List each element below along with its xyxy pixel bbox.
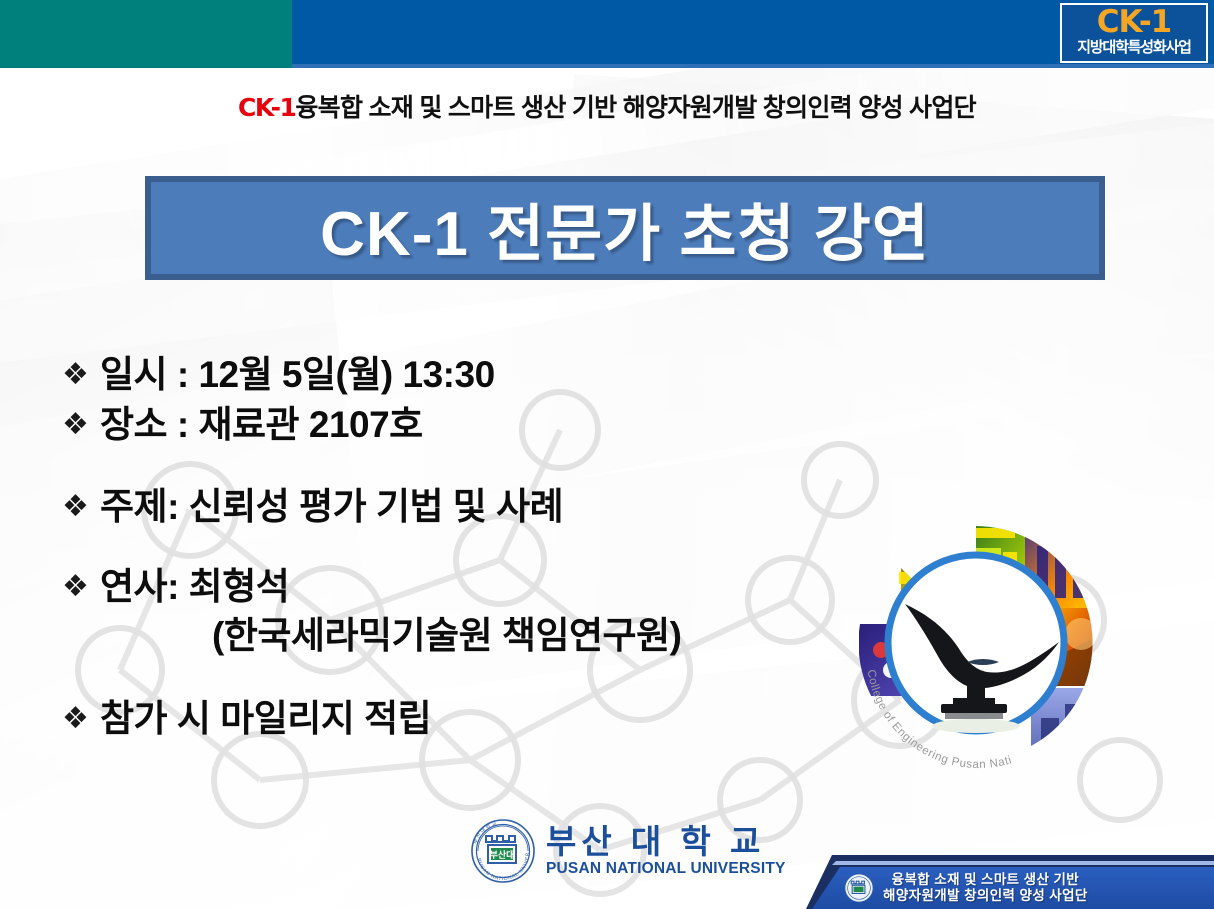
headline-org-text: 융복합 소재 및 스마트 생산 기반 해양자원개발 창의인력 양성 사업단 [295, 94, 976, 122]
list-item: ❖ 연사: 최형석 [62, 564, 882, 610]
pnu-seal-icon: 부산대 부산대학교 PUSAN NATIONAL UNIVERSITY [470, 818, 536, 884]
detail-location: 장소 : 재료관 2107호 [100, 402, 423, 448]
diamond-bullet-icon: ❖ [62, 352, 100, 398]
list-item: ❖ 장소 : 재료관 2107호 [62, 402, 882, 448]
detail-mileage: 참가 시 마일리지 적립 [100, 696, 431, 742]
pnu-wordmark: 부산 대 학 교 PUSAN NATIONAL UNIVERSITY [546, 825, 786, 877]
ck1-badge-subtitle: 지방대학특성화사업 [1062, 39, 1206, 56]
banner-light-stripe [806, 861, 1214, 865]
detail-speaker-affiliation: (한국세라믹기술원 책임연구원) [62, 610, 882, 662]
college-of-engineering-emblem: College of Engineering Pusan National Un… [845, 512, 1107, 774]
banner-line-1: 융복합 소재 및 스마트 생산 기반 [883, 872, 1088, 888]
diamond-bullet-icon: ❖ [62, 402, 100, 448]
diamond-bullet-icon: ❖ [62, 696, 100, 742]
topbar-teal-block [0, 0, 292, 68]
presentation-slide: CK-1 지방대학특성화사업 CK-1융복합 소재 및 스마트 생산 기반 해양… [0, 0, 1214, 909]
program-banner: 융복합 소재 및 스마트 생산 기반 해양자원개발 창의인력 양성 사업단 [806, 855, 1214, 909]
diamond-bullet-icon: ❖ [62, 564, 100, 610]
detail-speaker: 연사: 최형석 [100, 564, 289, 610]
ck1-badge-title: CK-1 [1062, 6, 1206, 39]
svg-text:부산대: 부산대 [490, 849, 515, 860]
pnu-name-english: PUSAN NATIONAL UNIVERSITY [546, 861, 786, 877]
ck1-program-badge: CK-1 지방대학특성화사업 [1060, 3, 1208, 63]
main-title-text: CK-1 전문가 초청 강연 [320, 183, 930, 273]
organization-headline: CK-1융복합 소재 및 스마트 생산 기반 해양자원개발 창의인력 양성 사업… [0, 88, 1214, 124]
banner-pnu-seal-icon [844, 873, 874, 903]
detail-datetime: 일시 : 12월 5일(월) 13:30 [100, 352, 495, 398]
list-item: ❖ 일시 : 12월 5일(월) 13:30 [62, 352, 882, 398]
topbar-underline [292, 64, 1214, 68]
event-details-list: ❖ 일시 : 12월 5일(월) 13:30 ❖ 장소 : 재료관 2107호 … [62, 352, 882, 742]
list-item: ❖ 주제: 신뢰성 평가 기법 및 사례 [62, 484, 882, 530]
top-color-bar: CK-1 지방대학특성화사업 [0, 0, 1214, 68]
banner-line-2: 해양자원개발 창의인력 양성 사업단 [883, 888, 1088, 904]
main-title-box: CK-1 전문가 초청 강연 [145, 176, 1105, 280]
pnu-logo: 부산대 부산대학교 PUSAN NATIONAL UNIVERSITY 부산 대… [470, 818, 786, 884]
diamond-bullet-icon: ❖ [62, 484, 100, 530]
list-item: ❖ 참가 시 마일리지 적립 [62, 696, 882, 742]
pnu-name-korean: 부산 대 학 교 [546, 825, 786, 858]
detail-topic: 주제: 신뢰성 평가 기법 및 사례 [100, 484, 563, 530]
headline-ck1-label: CK-1 [238, 93, 295, 122]
